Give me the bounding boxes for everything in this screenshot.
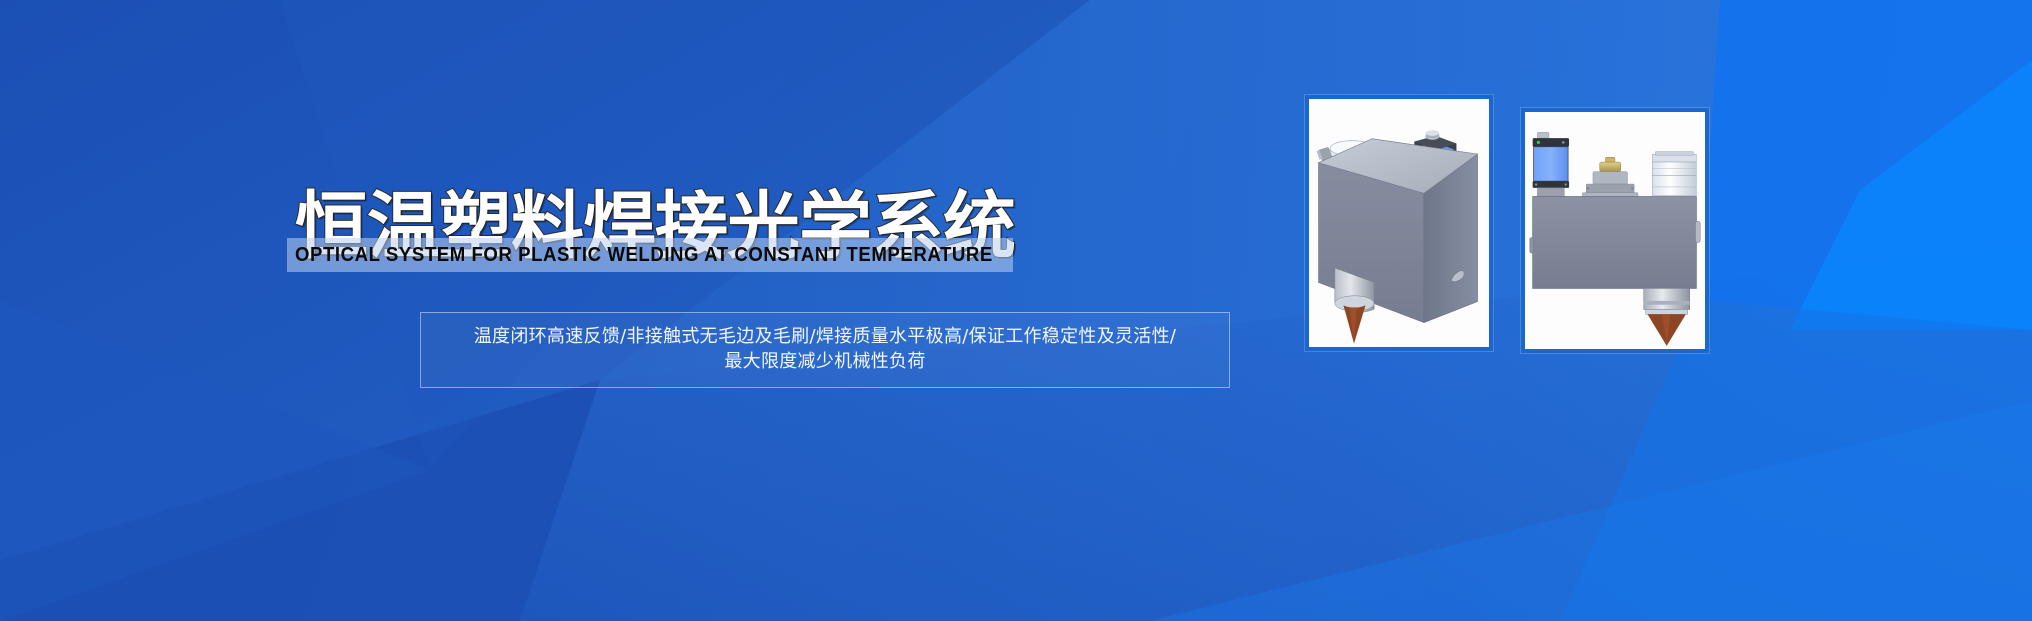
front-view-illustration (1525, 112, 1705, 349)
subtitle-panel: 温度闭环高速反馈/非接触式无毛边及毛刷/焊接质量水平极高/保证工作稳定性及灵活性… (420, 312, 1230, 388)
product-photo-isometric[interactable] (1305, 95, 1493, 351)
promo-banner: 恒温塑料焊接光学系统 OPTICAL SYSTEM FOR PLASTIC WE… (0, 0, 2032, 621)
subtitle-text: 温度闭环高速反馈/非接触式无毛边及毛刷/焊接质量水平极高/保证工作稳定性及灵活性… (437, 324, 1213, 374)
title-wrap: 恒温塑料焊接光学系统 OPTICAL SYSTEM FOR PLASTIC WE… (295, 186, 995, 306)
product-photo-front[interactable] (1521, 108, 1709, 353)
collimator-module (1652, 152, 1696, 196)
headline-block: 恒温塑料焊接光学系统 OPTICAL SYSTEM FOR PLASTIC WE… (0, 0, 1290, 621)
temperature-sensor-module (1533, 132, 1569, 201)
welding-head-body (1530, 197, 1700, 289)
isometric-view-illustration (1309, 99, 1489, 347)
subtitle-line-2: 最大限度减少机械性负荷 (724, 351, 925, 372)
subtitle-line-1: 温度闭环高速反馈/非接触式无毛边及毛刷/焊接质量水平极高/保证工作稳定性及灵活性… (474, 326, 1177, 347)
page-title-english: OPTICAL SYSTEM FOR PLASTIC WELDING AT CO… (295, 239, 946, 271)
